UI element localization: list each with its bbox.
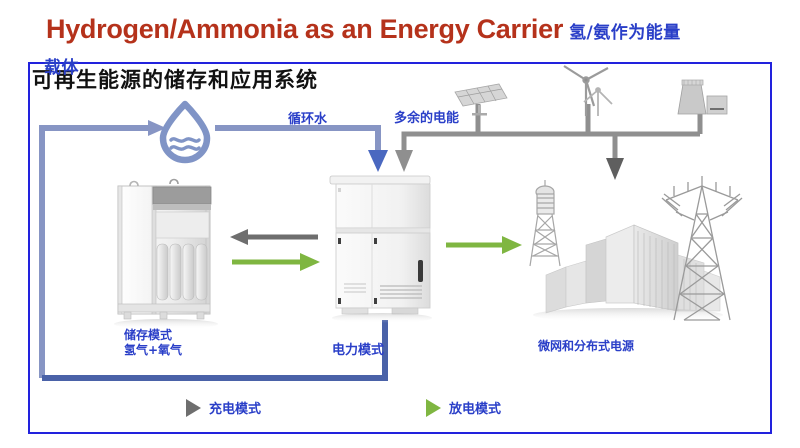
city-buildings [533,225,723,322]
charge-arrow-left [230,229,318,245]
legend-item-charge: 充电模式 [186,398,261,417]
label-storage-mode-line1: 储存模式 [124,328,182,343]
fuel-cell-cabinet [330,176,432,323]
solar-panel-icon [455,84,507,116]
label-storage-mode-line2: 氢气+氧气 [124,343,182,358]
hydrogen-storage-container [114,180,218,330]
triangle-right-icon [186,399,201,417]
label-power-mode: 电力模式 [332,339,384,358]
label-microgrid: 微网和分布式电源 [538,337,634,354]
legend-item-discharge: 放电模式 [426,398,501,417]
cooling-tower-icon [678,80,727,114]
label-circulating-water: 循环水 [288,108,327,127]
title-chinese-wrap: 载体 [44,53,79,78]
legend-label-discharge: 放电模式 [449,398,501,417]
label-excess-electricity: 多余的电能 [394,107,459,126]
legend-label-charge: 充电模式 [209,398,261,417]
communication-tower [530,180,560,266]
legend: 充电模式 放电模式 [186,398,606,424]
label-storage-mode: 储存模式 氢气+氧气 [124,328,182,358]
discharge-arrow-grid [446,236,522,254]
discharge-arrow-right [232,253,320,271]
triangle-right-icon [426,399,441,417]
slide-canvas: Hydrogen/Ammonia as an Energy Carrier氢/氨… [0,0,800,448]
water-drop-icon [163,104,207,160]
